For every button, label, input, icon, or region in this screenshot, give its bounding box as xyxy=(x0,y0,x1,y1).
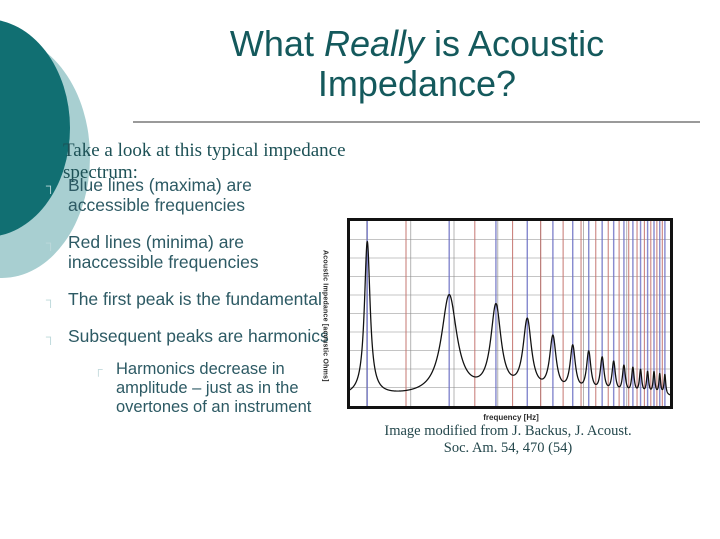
list-item-label: Blue lines (maxima) are accessible frequ… xyxy=(68,175,252,215)
bullet-marker-icon: ┐ xyxy=(46,236,55,249)
caption-line-1: Image modified from J. Backus, J. Acoust… xyxy=(384,423,631,439)
title-text-part1: What xyxy=(230,23,324,64)
bullet-marker-icon: ┐ xyxy=(46,330,55,343)
list-item: ┐ Blue lines (maxima) are accessible fre… xyxy=(44,176,334,216)
chart-plot-frame xyxy=(347,218,673,409)
list-item: ┐ The first peak is the fundamental xyxy=(44,290,334,310)
title-emphasis: Really xyxy=(324,23,424,64)
chart-x-axis-label: frequency [Hz] xyxy=(318,413,678,422)
list-item-label: The first peak is the fundamental xyxy=(68,289,322,309)
caption-line-2: Soc. Am. 54, 470 (54) xyxy=(444,440,572,456)
title-divider xyxy=(133,121,700,123)
page-title: What Really is Acoustic Impedance? xyxy=(132,24,702,104)
chart-area: Acoustic Impedance [acoustic Ohms] xyxy=(318,214,678,410)
bullet-marker-icon: ┐ xyxy=(46,293,55,306)
sub-list-item: ┌ Harmonics decrease in amplitude – just… xyxy=(94,360,334,417)
bullet-list: ┐ Blue lines (maxima) are accessible fre… xyxy=(44,176,334,434)
bullet-marker-icon: ┐ xyxy=(46,179,55,192)
list-item: ┐ Subsequent peaks are harmonics ┌ Harmo… xyxy=(44,327,334,417)
sub-bullet-marker-icon: ┌ xyxy=(94,363,103,375)
slide: What Really is Acoustic Impedance? Take … xyxy=(0,0,720,539)
sub-bullet-list: ┌ Harmonics decrease in amplitude – just… xyxy=(68,360,334,417)
spectrum-plot-svg xyxy=(350,221,670,406)
list-item: ┐ Red lines (minima) are inaccessible fr… xyxy=(44,233,334,273)
impedance-spectrum-figure: Acoustic Impedance [acoustic Ohms] frequ… xyxy=(318,214,678,457)
chart-canvas xyxy=(350,221,670,406)
list-item-label: Subsequent peaks are harmonics xyxy=(68,326,329,346)
chart-y-axis-label: Acoustic Impedance [acoustic Ohms] xyxy=(318,232,332,400)
list-item-label: Red lines (minima) are inaccessible freq… xyxy=(68,232,259,272)
sub-list-item-label: Harmonics decrease in amplitude – just a… xyxy=(116,360,311,416)
figure-caption: Image modified from J. Backus, J. Acoust… xyxy=(318,423,678,457)
